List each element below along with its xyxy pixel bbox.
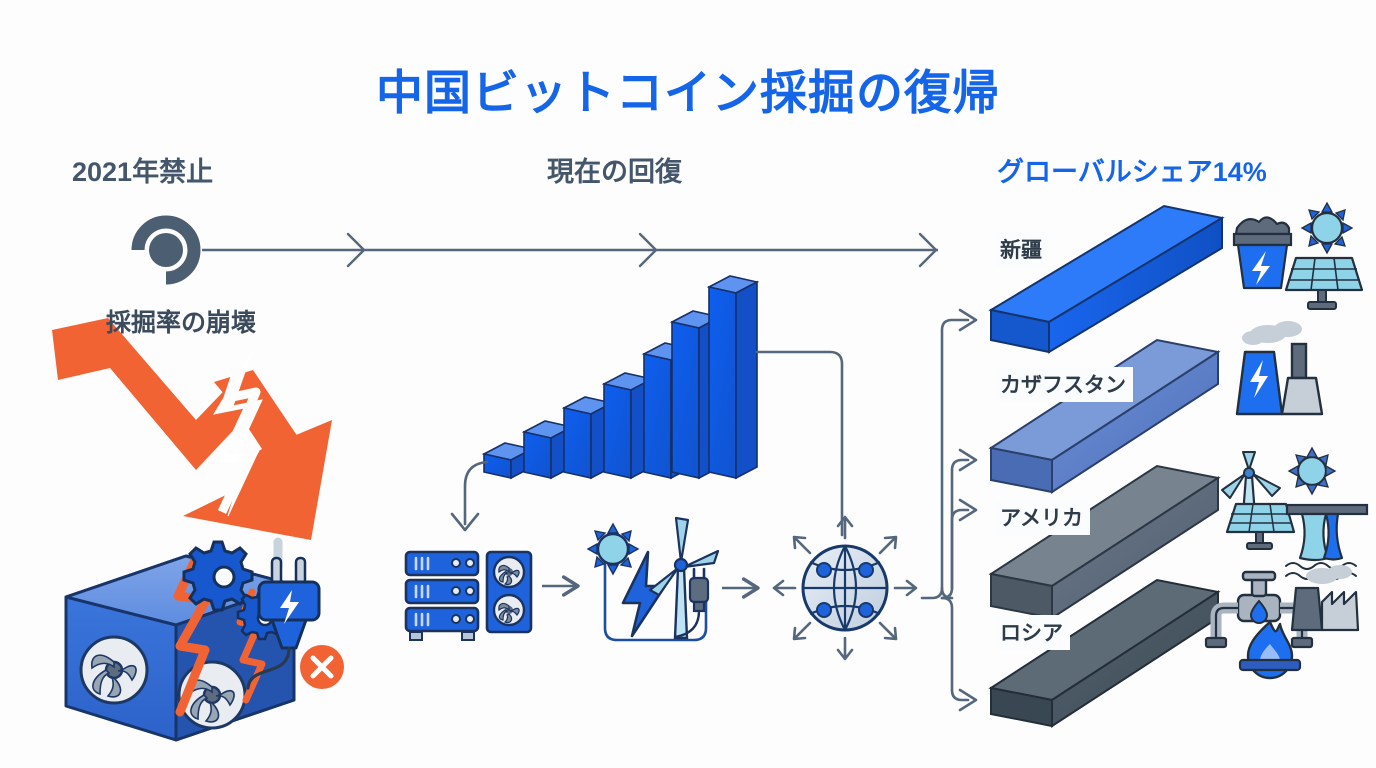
gas-valve-icon [1206, 572, 1312, 647]
energy-icons-kazakhstan [1237, 321, 1322, 414]
chart-bar-7 [709, 276, 757, 478]
error-x-icon [300, 645, 344, 689]
infographic-canvas: 中国ビットコイン採掘の復帰 2021年禁止 現在の回復 グローバルシェア14% … [0, 0, 1376, 768]
gpu-card-icon [487, 552, 531, 632]
section-heading-ban: 2021年禁止 [72, 150, 213, 189]
coal-plant-icon [1234, 217, 1291, 288]
chart-bar-2 [524, 421, 572, 478]
solar-panel-icon [1286, 258, 1362, 309]
section-heading-recovery: 現在の回復 [547, 150, 682, 189]
power-plant-smoke-icon [1237, 321, 1322, 414]
section-heading-share: グローバルシェア14% [997, 150, 1267, 189]
ranking-bar-xinjiang [991, 206, 1222, 352]
global-network-icon [774, 517, 916, 659]
recovery-bar-chart [484, 276, 757, 478]
solar-panel-icon-2 [1227, 504, 1294, 549]
sun-icon [1302, 203, 1352, 253]
timeline-origin-icon [138, 222, 194, 278]
bar-label-america: アメリカ [996, 500, 1090, 535]
timeline-axis [202, 234, 938, 266]
chart-to-globe-connector [757, 352, 842, 535]
page-title: 中国ビットコイン採掘の復帰 [0, 54, 1376, 123]
sun-icon-2 [1289, 448, 1335, 494]
chart-to-hardware-arrow [452, 462, 487, 530]
downward-crash-arrow-icon [52, 318, 332, 540]
subheading-hashrate-collapse: 採掘率の崩壊 [106, 303, 256, 339]
bar-label-russia: ロシア [996, 615, 1070, 650]
flame-icon [1240, 622, 1300, 678]
ranking-bar-america [991, 466, 1218, 618]
bar-label-kazakhstan: カザフスタン [996, 367, 1133, 402]
server-rack-icon [406, 552, 478, 640]
chart-bar-1 [484, 443, 532, 478]
energy-icons-russia [1206, 565, 1358, 678]
ranking-bar-russia [991, 580, 1218, 726]
bar-label-xinjiang: 新疆 [996, 232, 1049, 267]
energy-icons-xinjiang [1234, 203, 1362, 309]
ranking-bar-kazakhstan [991, 340, 1218, 492]
power-plug-icon [248, 542, 319, 688]
factory-icon [1292, 565, 1358, 630]
energy-icons-america [1222, 448, 1367, 579]
broken-gpu-rig-icon [66, 542, 344, 740]
wind-turbine-icon [1222, 452, 1280, 528]
chart-bar-6 [672, 311, 720, 478]
chart-bar-4 [604, 373, 652, 478]
hydro-dam-icon [1286, 505, 1367, 579]
gears-icon [184, 542, 252, 610]
chart-bar-5 [644, 343, 692, 478]
renewable-energy-icon [588, 518, 718, 640]
branch-connectors [922, 310, 976, 710]
chart-bar-3 [564, 397, 612, 478]
